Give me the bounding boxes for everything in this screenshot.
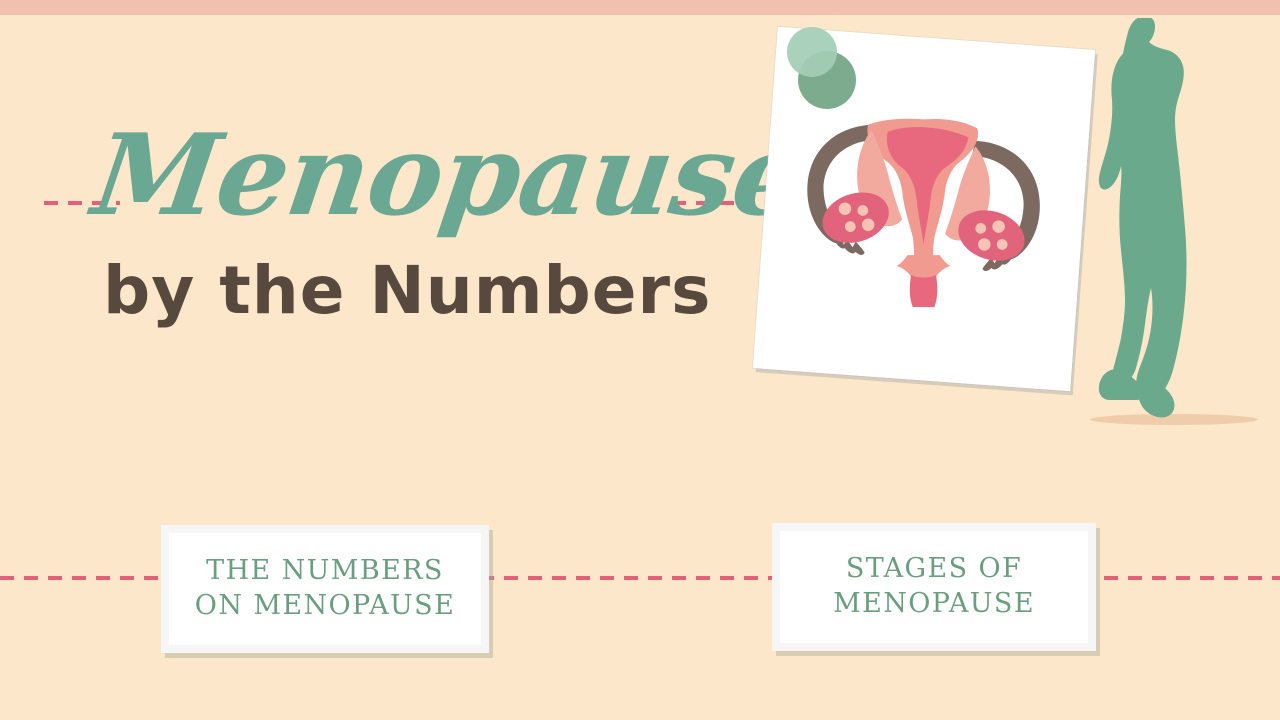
woman-silhouette-icon: [1095, 18, 1213, 426]
nav-card-the-numbers-on-menopause[interactable]: THE NUMBERS ON MENOPAUSE: [161, 525, 489, 653]
page-subtitle: by the Numbers: [103, 258, 735, 324]
infographic-cover: Menopause by the Numbers: [0, 0, 1280, 720]
page-title-script: Menopause: [87, 120, 743, 232]
nav-card-label: THE NUMBERS ON MENOPAUSE: [195, 554, 455, 623]
headline-block: Menopause by the Numbers: [95, 120, 735, 324]
top-accent-band: [0, 0, 1280, 15]
nav-card-stages-of-menopause[interactable]: STAGES OF MENOPAUSE: [772, 523, 1096, 651]
pushpin-front-disc: [787, 27, 837, 77]
nav-card-label: STAGES OF MENOPAUSE: [833, 552, 1035, 621]
